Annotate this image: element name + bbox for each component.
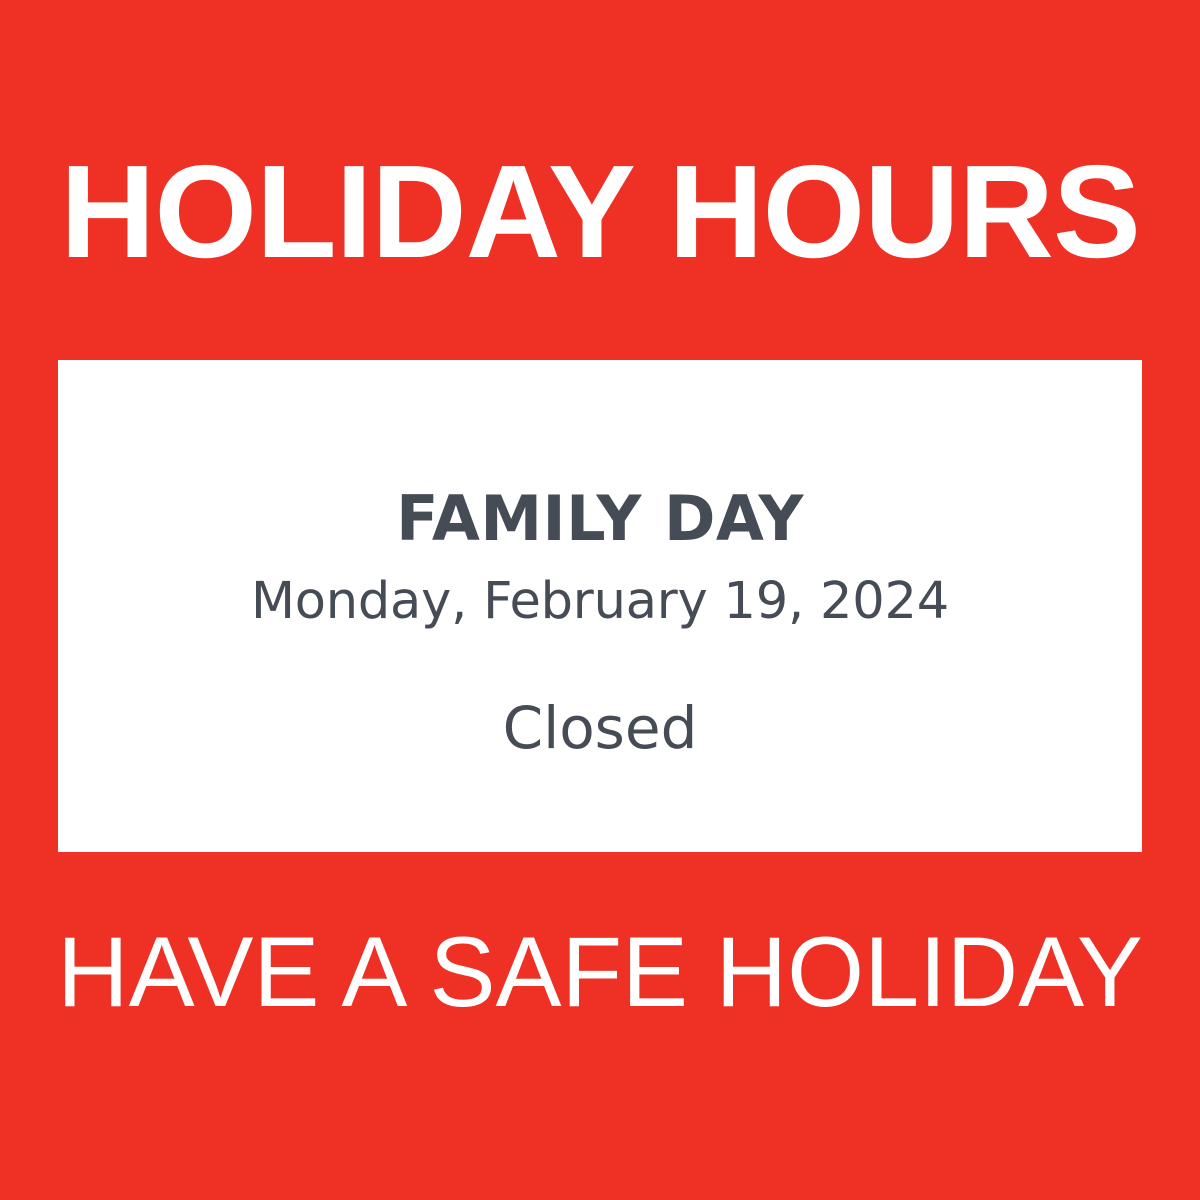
holiday-info-card: FAMILY DAY Monday, February 19, 2024 Clo…: [58, 360, 1142, 852]
holiday-name: FAMILY DAY: [396, 488, 804, 550]
page-title: HOLIDAY HOURS: [0, 146, 1200, 278]
holiday-date: Monday, February 19, 2024: [251, 576, 949, 627]
status-badge: Closed: [503, 699, 698, 757]
holiday-hours-sign: HOLIDAY HOURS FAMILY DAY Monday, Februar…: [0, 0, 1200, 1200]
footer-message: HAVE A SAFE HOLIDAY: [0, 922, 1200, 1021]
